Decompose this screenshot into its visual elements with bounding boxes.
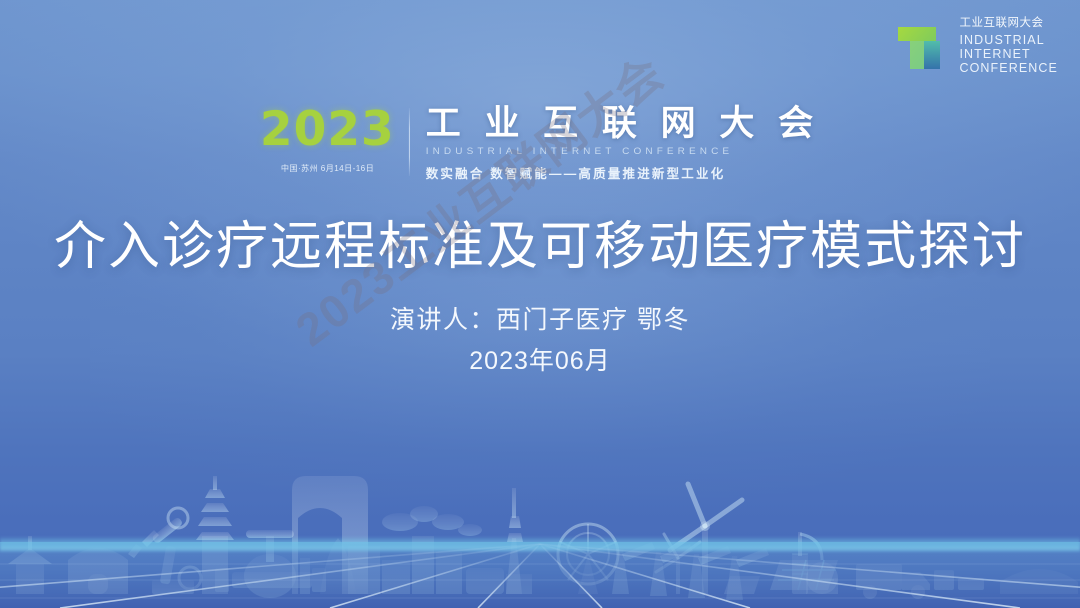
lockup-year-block: 2023 中国·苏州 6月14日-16日 — [260, 106, 409, 182]
wind-turbine-silhouette — [656, 484, 742, 594]
lockup-title-block: 工 业 互 联 网 大 会 INDUSTRIAL INTERNET CONFER… — [410, 106, 820, 182]
corner-logo-en-2: INTERNET — [959, 48, 1058, 61]
robot-arm-silhouette — [128, 508, 201, 594]
smoke-silhouette — [382, 506, 482, 536]
corner-conference-logo: 工业互联网大会 INDUSTRIAL INTERNET CONFERENCE — [894, 18, 1058, 76]
ferris-wheel-silhouette — [558, 524, 618, 594]
corner-logo-en-1: INDUSTRIAL — [959, 34, 1058, 47]
conference-t-mark-icon — [894, 19, 948, 75]
oil-pumpjack-silhouette — [612, 542, 769, 600]
exhibition-hall-silhouette — [68, 548, 128, 594]
slide-title: 介入诊疗远程标准及可移动医疗模式探讨 — [0, 204, 1080, 279]
suzhou-pagoda-silhouette — [196, 476, 234, 594]
slide-date: 2023年06月 — [0, 341, 1080, 377]
corner-logo-cn: 工业互联网大会 — [959, 18, 1058, 30]
presenter-line: 演讲人：西门子医疗 鄂冬 — [0, 300, 1080, 336]
pavilion-silhouette — [8, 536, 52, 594]
conference-slogan: 数实融合 数智赋能——高质量推进新型工业化 — [426, 163, 820, 182]
chemical-tank-silhouette — [792, 532, 838, 594]
conference-name-cn: 工 业 互 联 网 大 会 — [426, 106, 820, 143]
lockup-venue-date: 中国·苏州 6月14日-16日 — [281, 162, 374, 174]
skyline-silhouette — [0, 418, 1080, 608]
presentation-slide: 工业互联网大会 INDUSTRIAL INTERNET CONFERENCE 2… — [0, 0, 1080, 608]
tv-tower-silhouette — [506, 488, 523, 594]
factory-silhouette — [300, 536, 532, 594]
industrial-valve-silhouette — [215, 530, 326, 598]
dome-hall-silhouette — [1000, 569, 1078, 594]
corner-logo-text: 工业互联网大会 INDUSTRIAL INTERNET CONFERENCE — [959, 18, 1058, 76]
conference-name-en: INDUSTRIAL INTERNET CONFERENCE — [426, 146, 820, 156]
gate-of-the-orient-silhouette — [292, 476, 368, 594]
conference-lockup: 2023 中国·苏州 6月14日-16日 工 业 互 联 网 大 会 INDUS… — [260, 106, 820, 182]
perspective-ground-grid — [0, 542, 1080, 608]
solar-panel-silhouette — [724, 560, 838, 594]
lockup-year: 2023 — [260, 106, 395, 153]
freight-truck-silhouette — [856, 564, 984, 599]
corner-logo-en-3: CONFERENCE — [959, 62, 1058, 75]
horizon-glow — [0, 536, 1080, 552]
